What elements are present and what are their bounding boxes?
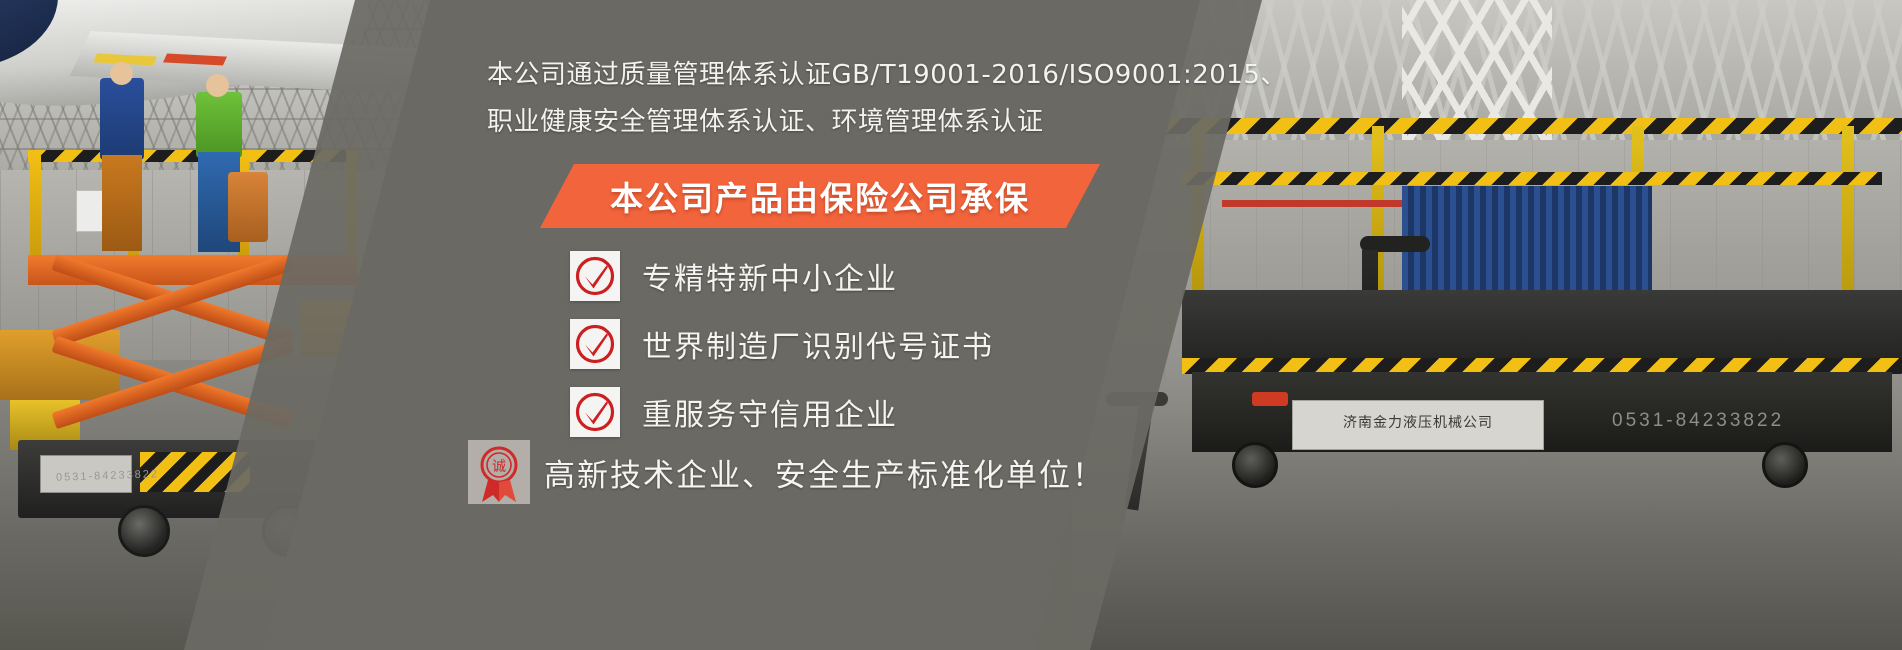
certification-list: 专精特新中小企业 世界制造厂识别代号证书 重 [570, 242, 1210, 446]
insurance-ribbon: 本公司产品由保险公司承保 [540, 164, 1100, 234]
highlight-item: 诚 高新技术企业、安全生产标准化单位！ [468, 440, 1105, 504]
headline-line-2: 职业健康安全管理体系认证、环境管理体系认证 [487, 99, 1287, 146]
headline-block: 本公司通过质量管理体系认证GB/T19001-2016/ISO9001:2015… [487, 52, 1287, 146]
list-item: 重服务守信用企业 [570, 378, 1210, 446]
banner-content: 本公司通过质量管理体系认证GB/T19001-2016/ISO9001:2015… [0, 0, 1902, 650]
check-circle-icon [570, 387, 620, 437]
headline-line-1: 本公司通过质量管理体系认证GB/T19001-2016/ISO9001:2015… [487, 60, 1287, 90]
check-circle-icon [570, 319, 620, 369]
list-item-label: 专精特新中小企业 [642, 254, 898, 298]
list-item: 世界制造厂识别代号证书 [570, 310, 1210, 378]
list-item: 专精特新中小企业 [570, 242, 1210, 310]
highlight-item-label: 高新技术企业、安全生产标准化单位！ [544, 450, 1105, 495]
svg-text:诚: 诚 [492, 459, 506, 475]
promo-banner: 0531-84233822 济南金力液压机械公司 0531-84233822 [0, 0, 1902, 650]
list-item-label: 世界制造厂识别代号证书 [642, 322, 994, 366]
list-item-label: 重服务守信用企业 [642, 390, 898, 434]
check-circle-icon [570, 251, 620, 301]
ribbon-label: 本公司产品由保险公司承保 [540, 164, 1100, 228]
medal-ribbon-icon: 诚 [468, 440, 530, 504]
